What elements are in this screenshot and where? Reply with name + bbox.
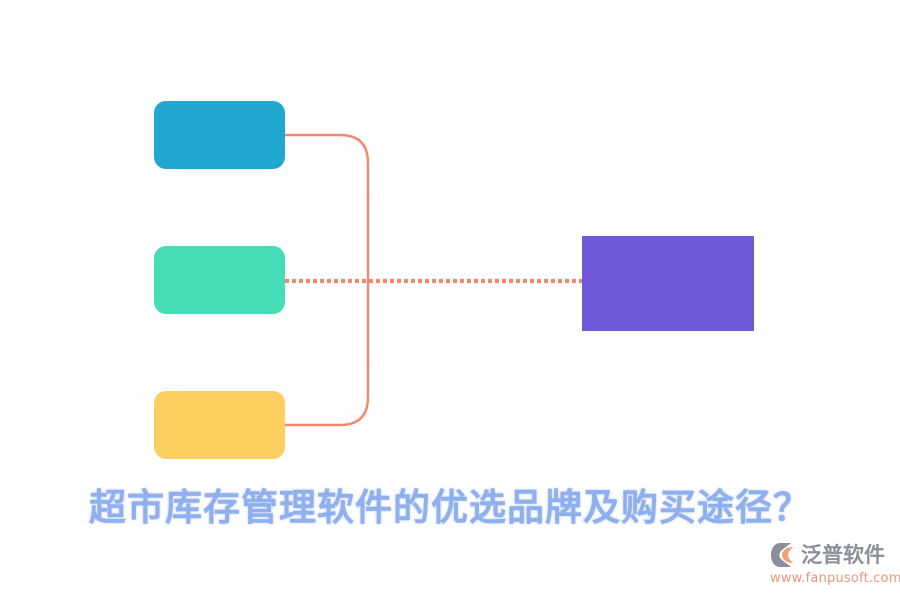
page-title: 超市库存管理软件的优选品牌及购买途径？ [0, 482, 900, 534]
connector-cyan-to-trunk [285, 135, 368, 200]
diagram-node-green[interactable] [154, 246, 285, 314]
diagram-node-yellow[interactable] [154, 391, 285, 459]
diagram-node-purple[interactable] [582, 236, 754, 331]
logo-wordmark: 泛普软件 [801, 540, 885, 570]
logo-url: www.fanpusoft.com [770, 570, 895, 588]
diagram-canvas: 超市库存管理软件的优选品牌及购买途径？ 泛普软件 www.fanpusoft.c… [0, 0, 900, 600]
logo-top-row: 泛普软件 [770, 540, 895, 570]
diagram-node-cyan[interactable] [154, 101, 285, 169]
brand-logo[interactable]: 泛普软件 www.fanpusoft.com [770, 540, 895, 592]
fanpu-logo-icon [770, 540, 800, 570]
connector-yellow-to-trunk [285, 360, 368, 425]
